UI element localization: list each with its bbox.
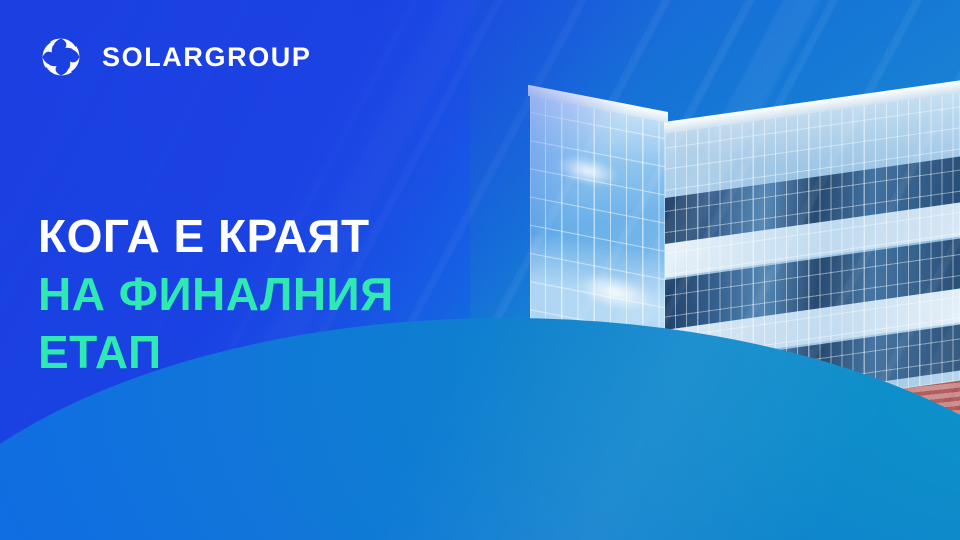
headline-line-1: КОГА Е КРАЯТ [38,208,508,266]
headline-line-3: ЕТАП [38,324,508,382]
solargroup-swirl-icon [34,30,88,84]
promo-banner: SOLARGROUP КОГА Е КРАЯТ НА ФИНАЛНИЯ ЕТАП [0,0,960,540]
headline-line-2: НА ФИНАЛНИЯ [38,266,508,324]
headline-block: КОГА Е КРАЯТ НА ФИНАЛНИЯ ЕТАП [38,208,508,382]
brand-wordmark: SOLARGROUP [102,44,312,71]
brand-logo[interactable]: SOLARGROUP [34,30,312,84]
